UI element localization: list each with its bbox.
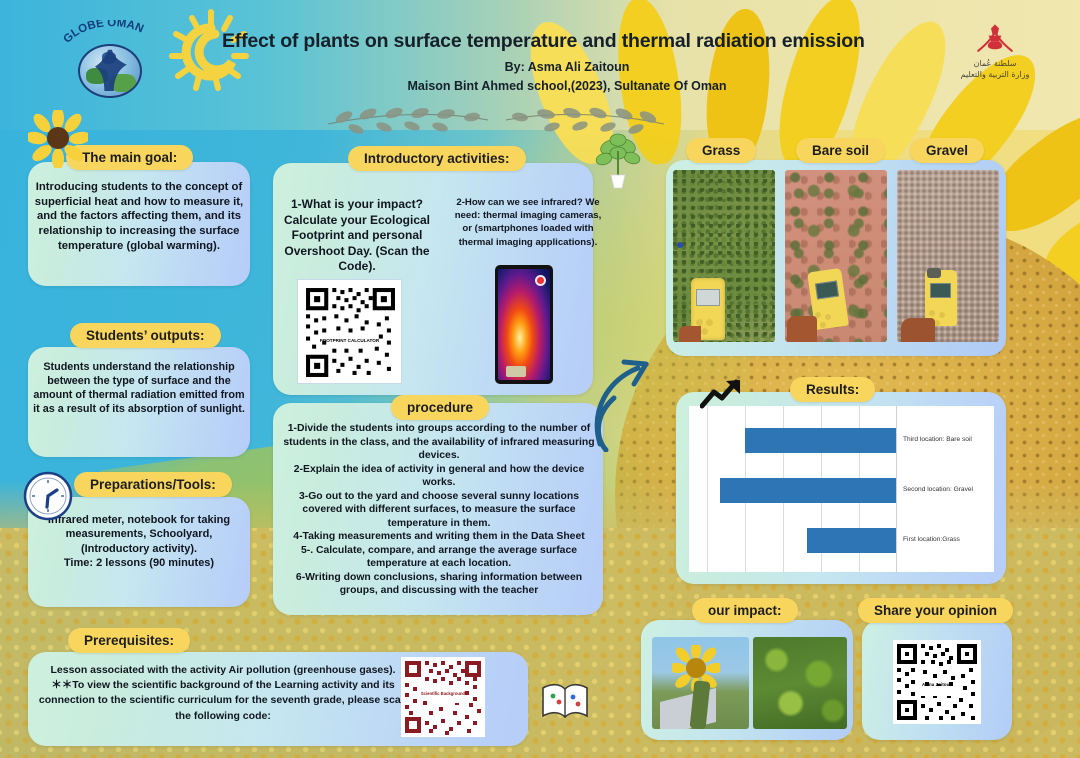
intro-activity-1-text: 1-What is your impact? Calculate your Ec… [282, 197, 432, 275]
scientific-background-qr-label: Scientific Background [401, 691, 485, 697]
preparations-text: Infrared meter, notebook for taking meas… [32, 513, 246, 570]
results-bar-chart: Third location: Bare soil Second locatio… [689, 406, 994, 572]
bar-first-location-grass [807, 528, 896, 553]
bar-label-third-location: Third location: Bare soil [903, 436, 972, 443]
photo-bare-soil-measurement [785, 170, 887, 342]
procedure-pill: procedure [391, 395, 489, 420]
sprout-plant-icon [594, 133, 642, 193]
school-line: Maison Bint Ahmed school,(2023), Sultana… [222, 79, 912, 93]
photo-label-gravel: Gravel [910, 138, 984, 163]
oman-ministry-emblem: سلطنة عُمان وزارة التربية والتعليم [930, 22, 1060, 96]
thermal-imaging-phone-photo [495, 265, 553, 384]
intro-activity-2-text: 2-How can we see infrared? We need: ther… [452, 196, 604, 249]
small-sunflower-icon [28, 110, 88, 168]
emblem-arabic-line-1: سلطنة عُمان [930, 59, 1060, 70]
preparations-pill: Preparations/Tools: [74, 472, 232, 497]
bar-label-second-location: Second location: Gravel [903, 486, 973, 493]
introductory-activities-pill: Introductory activities: [348, 146, 526, 171]
bar-third-location-bare-soil [745, 428, 896, 453]
footprint-calculator-qr-code[interactable]: FOOTPRINT CALCULATOR [297, 279, 402, 384]
open-book-icon [540, 680, 590, 722]
page-title: Effect of plants on surface temperature … [222, 30, 912, 53]
students-outputs-pill: Students’ outputs: [70, 323, 221, 348]
photo-label-bare-soil: Bare soil [796, 138, 885, 163]
our-impact-pill: our impact: [692, 598, 798, 623]
bar-label-first-location: First location:Grass [903, 536, 960, 543]
photo-label-grass: Grass [686, 138, 756, 163]
photo-gravel-measurement [897, 170, 999, 342]
students-outputs-text: Students understand the relationship bet… [32, 360, 246, 416]
globe-icon [78, 44, 142, 98]
photo-grass-measurement [673, 170, 775, 342]
opinion-qr-label: Asma Zaitoun [901, 682, 973, 689]
procedure-steps: 1-Divide the students into groups accord… [280, 422, 598, 598]
scientific-background-qr-code[interactable]: Scientific Background [401, 657, 485, 737]
khanjar-crossed-swords-icon [967, 22, 1023, 54]
svg-text:GLOBE OMAN: GLOBE OMAN [62, 20, 145, 46]
photo-impact-plants [753, 637, 847, 729]
prerequisites-pill: Prerequisites: [68, 628, 190, 653]
share-opinion-pill: Share your opinion [858, 598, 1013, 623]
results-pill: Results: [790, 377, 875, 402]
trend-up-arrow-icon [700, 378, 746, 410]
globe-oman-logo: GLOBE OMAN [62, 18, 158, 104]
author-line: By: Asma Ali Zaitoun [222, 60, 912, 74]
emblem-arabic-line-2: وزارة التربية والتعليم [930, 70, 1060, 81]
main-goal-text: Introducing students to the concept of s… [34, 180, 244, 253]
clock-icon [23, 471, 73, 521]
curved-arrow-to-photos-icon [586, 340, 706, 452]
prerequisites-text: Lesson associated with the activity Air … [38, 663, 408, 724]
thermal-image [498, 269, 550, 380]
photo-impact-sunflower [652, 637, 749, 729]
footprint-qr-label: FOOTPRINT CALCULATOR [304, 338, 395, 345]
qr-pattern-footprint [304, 286, 397, 379]
share-opinion-qr-code[interactable]: Asma Zaitoun [893, 640, 981, 724]
bar-second-location-gravel [720, 478, 896, 503]
